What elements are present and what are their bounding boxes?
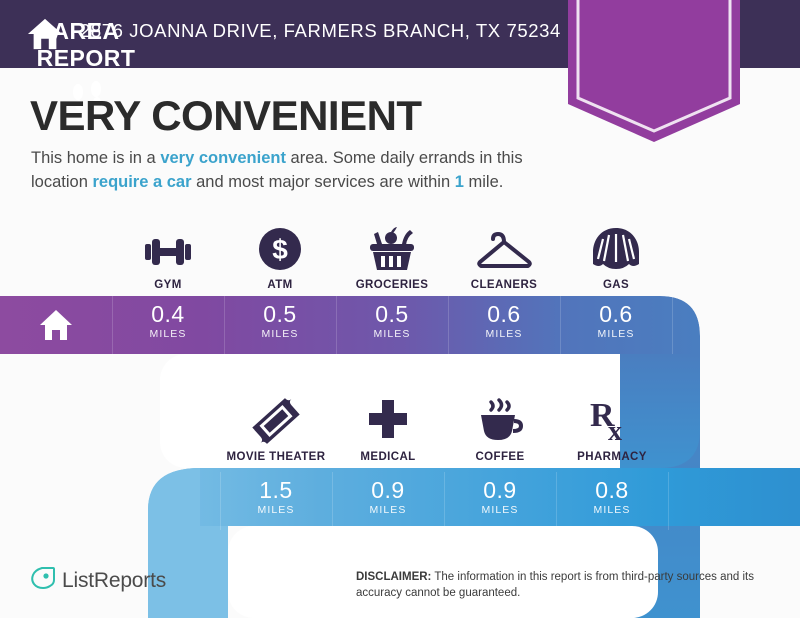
distance-value: 0.9 [332,472,444,504]
summary-highlight-1: very convenient [160,149,286,167]
distance-value: 1.5 [220,472,332,504]
category-coffee: COFFEE [444,388,556,463]
cell-divider [560,296,561,354]
dumbbell-icon [112,216,224,272]
distance-coffee: 0.9 MILES [444,472,556,530]
distance-unit: MILES [560,328,672,340]
cell-divider [220,472,221,530]
distance-pharmacy: 0.8 MILES [556,472,668,530]
badge-label: AREA REPORT [0,18,172,72]
category-gas: GAS [560,216,672,291]
distance-cleaners: 0.6 MILES [448,296,560,354]
distance-gym: 0.4 MILES [112,296,224,354]
listreports-logo-text: ListReports [62,569,166,593]
cell-divider [668,472,669,530]
category-groceries: GROCERIES [336,216,448,291]
summary-highlight-3: 1 [455,173,464,191]
clothes-hanger-icon [448,216,560,272]
distance-unit: MILES [332,504,444,516]
distance-unit: MILES [556,504,668,516]
cell-divider [224,296,225,354]
prescription-rx-icon: R x [556,388,668,444]
distance-groceries: 0.5 MILES [336,296,448,354]
distance-value: 0.6 [448,296,560,328]
category-label: GROCERIES [336,279,448,291]
category-label: MOVIE THEATER [220,451,332,463]
disclaimer-label: DISCLAIMER: [356,571,431,583]
distance-value: 0.4 [112,296,224,328]
cell-divider [672,296,673,354]
summary-part-3: and most major services are within [192,173,455,191]
cell-divider [336,296,337,354]
area-report-infographic: 2876 JOANNA DRIVE, FARMERS BRANCH, TX 75… [0,0,800,618]
cell-divider [444,472,445,530]
cell-divider [332,472,333,530]
area-report-badge [568,0,740,142]
distance-value: 0.8 [556,472,668,504]
summary-part-1: This home is in a [31,149,160,167]
distance-atm: 0.5 MILES [224,296,336,354]
home-icon [38,308,74,342]
distance-unit: MILES [336,328,448,340]
distance-gas: 0.6 MILES [560,296,672,354]
category-label: ATM [224,279,336,291]
summary-part-4: mile. [464,173,503,191]
category-label: PHARMACY [556,451,668,463]
dollar-circle-icon: $ [224,216,336,272]
svg-text:$: $ [272,234,288,265]
distance-unit: MILES [444,504,556,516]
distance-medical: 0.9 MILES [332,472,444,530]
distance-unit: MILES [224,328,336,340]
category-pharmacy: R x PHARMACY [556,388,668,463]
medical-cross-icon [332,388,444,444]
shopping-basket-icon [336,216,448,272]
summary-highlight-2: require a car [92,173,191,191]
category-label: CLEANERS [448,279,560,291]
cell-divider [448,296,449,354]
category-label: GYM [112,279,224,291]
page-title: VERY CONVENIENT [30,92,422,140]
badge-line-1: AREA [0,18,172,45]
svg-text:x: x [608,416,622,444]
distance-unit: MILES [220,504,332,516]
summary-text: This home is in a very convenient area. … [31,146,576,194]
distance-value: 0.6 [560,296,672,328]
category-movie-theater: MOVIE THEATER [220,388,332,463]
category-atm: $ ATM [224,216,336,291]
badge-line-2: REPORT [0,45,172,72]
distance-movie-theater: 1.5 MILES [220,472,332,530]
distance-unit: MILES [112,328,224,340]
listreports-logo-icon [30,566,56,592]
distance-value: 0.5 [224,296,336,328]
category-label: GAS [560,279,672,291]
movie-ticket-icon [220,388,332,444]
distance-value: 0.5 [336,296,448,328]
cell-divider [112,296,113,354]
category-label: COFFEE [444,451,556,463]
category-cleaners: CLEANERS [448,216,560,291]
shell-icon [560,216,672,272]
distance-value: 0.9 [444,472,556,504]
category-medical: MEDICAL [332,388,444,463]
category-label: MEDICAL [332,451,444,463]
category-gym: GYM [112,216,224,291]
cell-divider [556,472,557,530]
coffee-cup-icon [444,388,556,444]
disclaimer: DISCLAIMER: The information in this repo… [356,569,786,601]
distance-unit: MILES [448,328,560,340]
